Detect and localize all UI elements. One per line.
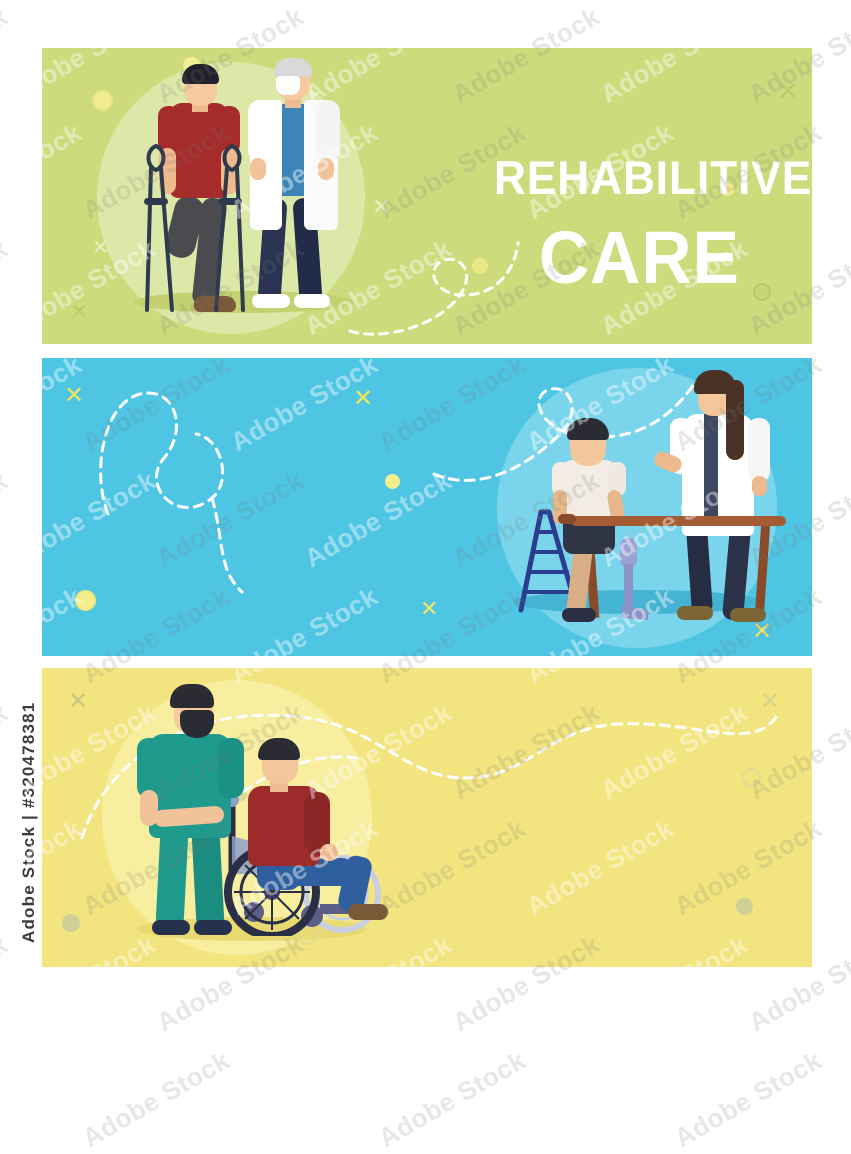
banner-care-headline-line2: CARE <box>539 223 740 293</box>
x-mark-icon: ✕ <box>353 387 373 411</box>
watermark-text: Adobe Stock <box>669 1045 827 1154</box>
watermark-text: Adobe Stock <box>817 117 851 226</box>
prosthetic-leg-icon <box>608 538 658 628</box>
watermark-text: Adobe Stock <box>77 1045 235 1154</box>
rehabilitive-care-banner[interactable]: ✕ ✕ ✕ ✕ <box>42 48 812 344</box>
x-mark-icon: ✕ <box>92 238 109 258</box>
watermark-text: Adobe Stock <box>817 813 851 922</box>
x-mark-icon: ✕ <box>752 620 772 644</box>
rehabilitation-hospital-banner[interactable]: ✕ ✕ ✕ <box>42 668 812 967</box>
watermark-text: Adobe Stock <box>817 581 851 690</box>
circle-dot <box>753 283 771 301</box>
watermark-text: Adobe Stock <box>225 1045 383 1154</box>
circle-dot <box>92 90 113 111</box>
crutch-icon <box>142 140 252 315</box>
x-mark-icon: ✕ <box>70 301 88 323</box>
watermark-text: Adobe Stock <box>817 1045 851 1154</box>
watermark-text: Adobe Stock <box>0 233 13 342</box>
dashed-curve-icon <box>342 223 522 338</box>
watermark-text: Adobe Stock <box>0 1 13 110</box>
dashed-curve-icon <box>72 378 292 608</box>
watermark-text: Adobe Stock <box>0 465 13 574</box>
banner-care-headline-line1: REHABILITIVE <box>494 156 812 201</box>
circle-dot <box>385 474 400 489</box>
watermark-text: Adobe Stock <box>0 929 13 1038</box>
x-mark-icon: ✕ <box>777 78 799 104</box>
circle-dot <box>736 898 753 915</box>
illustration-set-page: Adobe Stock | #320478381 ✕ ✕ ✕ ✕ <box>0 0 851 1000</box>
x-mark-icon: ✕ <box>420 598 438 620</box>
x-mark-icon: ✕ <box>372 196 390 218</box>
watermark-text: Adobe Stock <box>0 697 13 806</box>
watermark-text: Adobe Stock <box>521 1045 679 1154</box>
stock-credit-label: Adobe Stock | #320478381 <box>19 713 39 943</box>
watermark-text: Adobe Stock <box>373 1045 531 1154</box>
circle-dot <box>62 914 80 932</box>
watermark-text: Adobe Stock <box>0 1045 87 1154</box>
watermark-text: Adobe Stock <box>817 349 851 458</box>
childrens-rehabilitation-banner[interactable]: ✕ ✕ ✕ ✕ <box>42 358 812 656</box>
